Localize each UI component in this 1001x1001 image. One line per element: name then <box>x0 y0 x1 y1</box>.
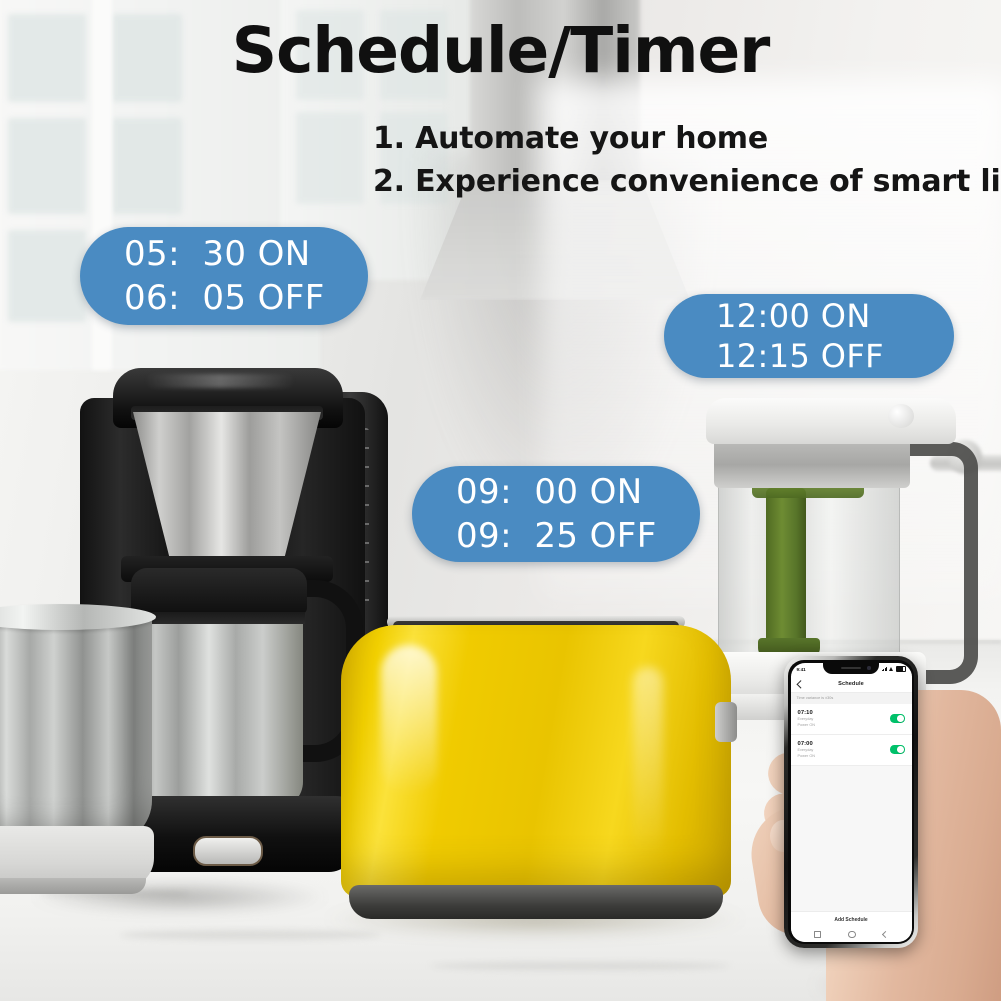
schedule-repeat: Everyday <box>798 717 890 722</box>
blender-lid <box>706 398 956 444</box>
cabinet-pane <box>296 112 364 204</box>
toaster-highlight <box>381 645 437 795</box>
timer-badge-morning: 05: 30 ON 06: 05 OFF <box>80 227 368 325</box>
toggle-knob <box>897 715 904 722</box>
status-indicators <box>882 666 906 672</box>
phone-notch <box>823 663 879 674</box>
smartphone: 9:41 Schedule Time variance is ±30s <box>784 656 918 948</box>
benefit-list: 1. Automate your home 2. Experience conv… <box>355 118 995 203</box>
recents-icon[interactable] <box>814 931 821 938</box>
toaster-lever <box>715 702 737 742</box>
timer-badge-line-off: 09: 25 OFF <box>456 514 700 558</box>
add-schedule-button[interactable]: Add Schedule <box>791 911 912 928</box>
benefit-item: 2. Experience convenience of smart life <box>355 161 995 204</box>
wifi-icon <box>889 667 895 671</box>
battery-icon <box>896 666 906 672</box>
stainless-mixing-bowl <box>0 612 152 844</box>
schedule-time: 07:00 <box>798 741 890 747</box>
cabinet-pane <box>8 230 86 322</box>
timer-badge-midmorning: 09: 00 ON 09: 25 OFF <box>412 466 700 562</box>
cabinet-pane <box>112 118 182 214</box>
bowl-foot <box>0 878 146 894</box>
empty-list-area <box>791 766 912 911</box>
benefit-item: 1. Automate your home <box>355 118 995 161</box>
timer-badge-line-on: 09: 00 ON <box>456 470 700 514</box>
schedule-row[interactable]: 07:10 Everyday Power ON <box>791 704 912 735</box>
headline: Schedule/Timer <box>0 18 1001 84</box>
carafe-band <box>133 612 305 624</box>
status-time: 9:41 <box>797 667 806 672</box>
yellow-toaster <box>333 607 738 925</box>
timer-badge-noon: 12:00 ON 12:15 OFF <box>664 294 954 378</box>
back-icon[interactable] <box>882 931 889 938</box>
earpiece-speaker-icon <box>841 667 861 669</box>
blender-lid-knob <box>888 404 914 428</box>
phone-bezel: 9:41 Schedule Time variance is ±30s <box>788 660 914 944</box>
cabinet-pane <box>8 118 86 214</box>
time-variance-hint: Time variance is ±30s <box>791 693 912 704</box>
system-nav-bar <box>791 928 912 942</box>
timer-badge-line-off: 06: 05 OFF <box>124 276 368 320</box>
phone-screen: 9:41 Schedule Time variance is ±30s <box>791 663 912 942</box>
marble-vein <box>430 962 730 970</box>
home-icon[interactable] <box>848 931 856 939</box>
schedule-details: 07:10 Everyday Power ON <box>798 710 890 728</box>
schedule-list: 07:10 Everyday Power ON 07:00 Everyday P <box>791 704 912 766</box>
signal-icon <box>882 667 887 672</box>
carafe-lid <box>131 568 307 614</box>
schedule-action: Power ON <box>798 754 890 759</box>
schedule-row[interactable]: 07:00 Everyday Power ON <box>791 735 912 766</box>
page-title: Schedule <box>791 681 912 687</box>
schedule-details: 07:00 Everyday Power ON <box>798 741 890 759</box>
timer-badge-line-on: 05: 30 ON <box>124 232 368 276</box>
toaster-highlight <box>633 667 663 857</box>
timer-badge-line-off: 12:15 OFF <box>716 336 954 376</box>
toggle-knob <box>897 746 904 753</box>
schedule-time: 07:10 <box>798 710 890 716</box>
schedule-action: Power ON <box>798 723 890 728</box>
timer-badge-line-on: 12:00 ON <box>716 296 954 336</box>
coffee-maker-power-button <box>193 836 263 866</box>
schedule-toggle[interactable] <box>890 714 905 722</box>
schedule-repeat: Everyday <box>798 748 890 753</box>
lid-highlight <box>145 374 295 388</box>
front-camera-icon <box>867 666 871 670</box>
promo-banner: 9:41 Schedule Time variance is ±30s <box>0 0 1001 1001</box>
toaster-base <box>349 885 723 919</box>
green-puree-column <box>766 488 806 650</box>
schedule-toggle[interactable] <box>890 745 905 753</box>
app-nav-bar: Schedule <box>791 676 912 693</box>
